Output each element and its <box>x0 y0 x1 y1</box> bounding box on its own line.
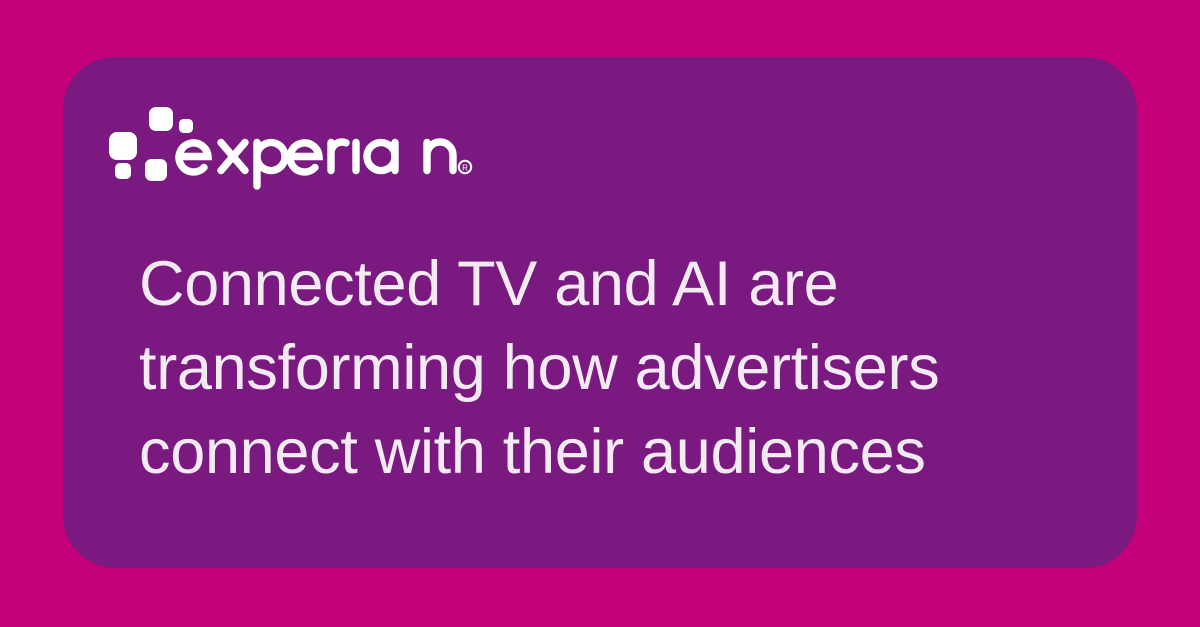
logo-square-top-right <box>149 107 173 131</box>
experian-logo: R <box>105 101 395 187</box>
logo-square-bottom <box>145 159 167 181</box>
registered-trademark-icon: R <box>459 161 471 173</box>
social-card-canvas: R Connected TV and AI are transforming h… <box>0 0 1200 627</box>
content-card: R Connected TV and AI are transforming h… <box>63 57 1137 568</box>
logo-square-middle-left-small <box>115 163 131 179</box>
headline-text: Connected TV and AI are transforming how… <box>139 242 1097 494</box>
experian-wordmark <box>179 142 453 186</box>
logo-square-middle-left <box>109 132 137 160</box>
svg-text:R: R <box>462 164 468 173</box>
logo-square-top-right-small <box>179 119 193 133</box>
